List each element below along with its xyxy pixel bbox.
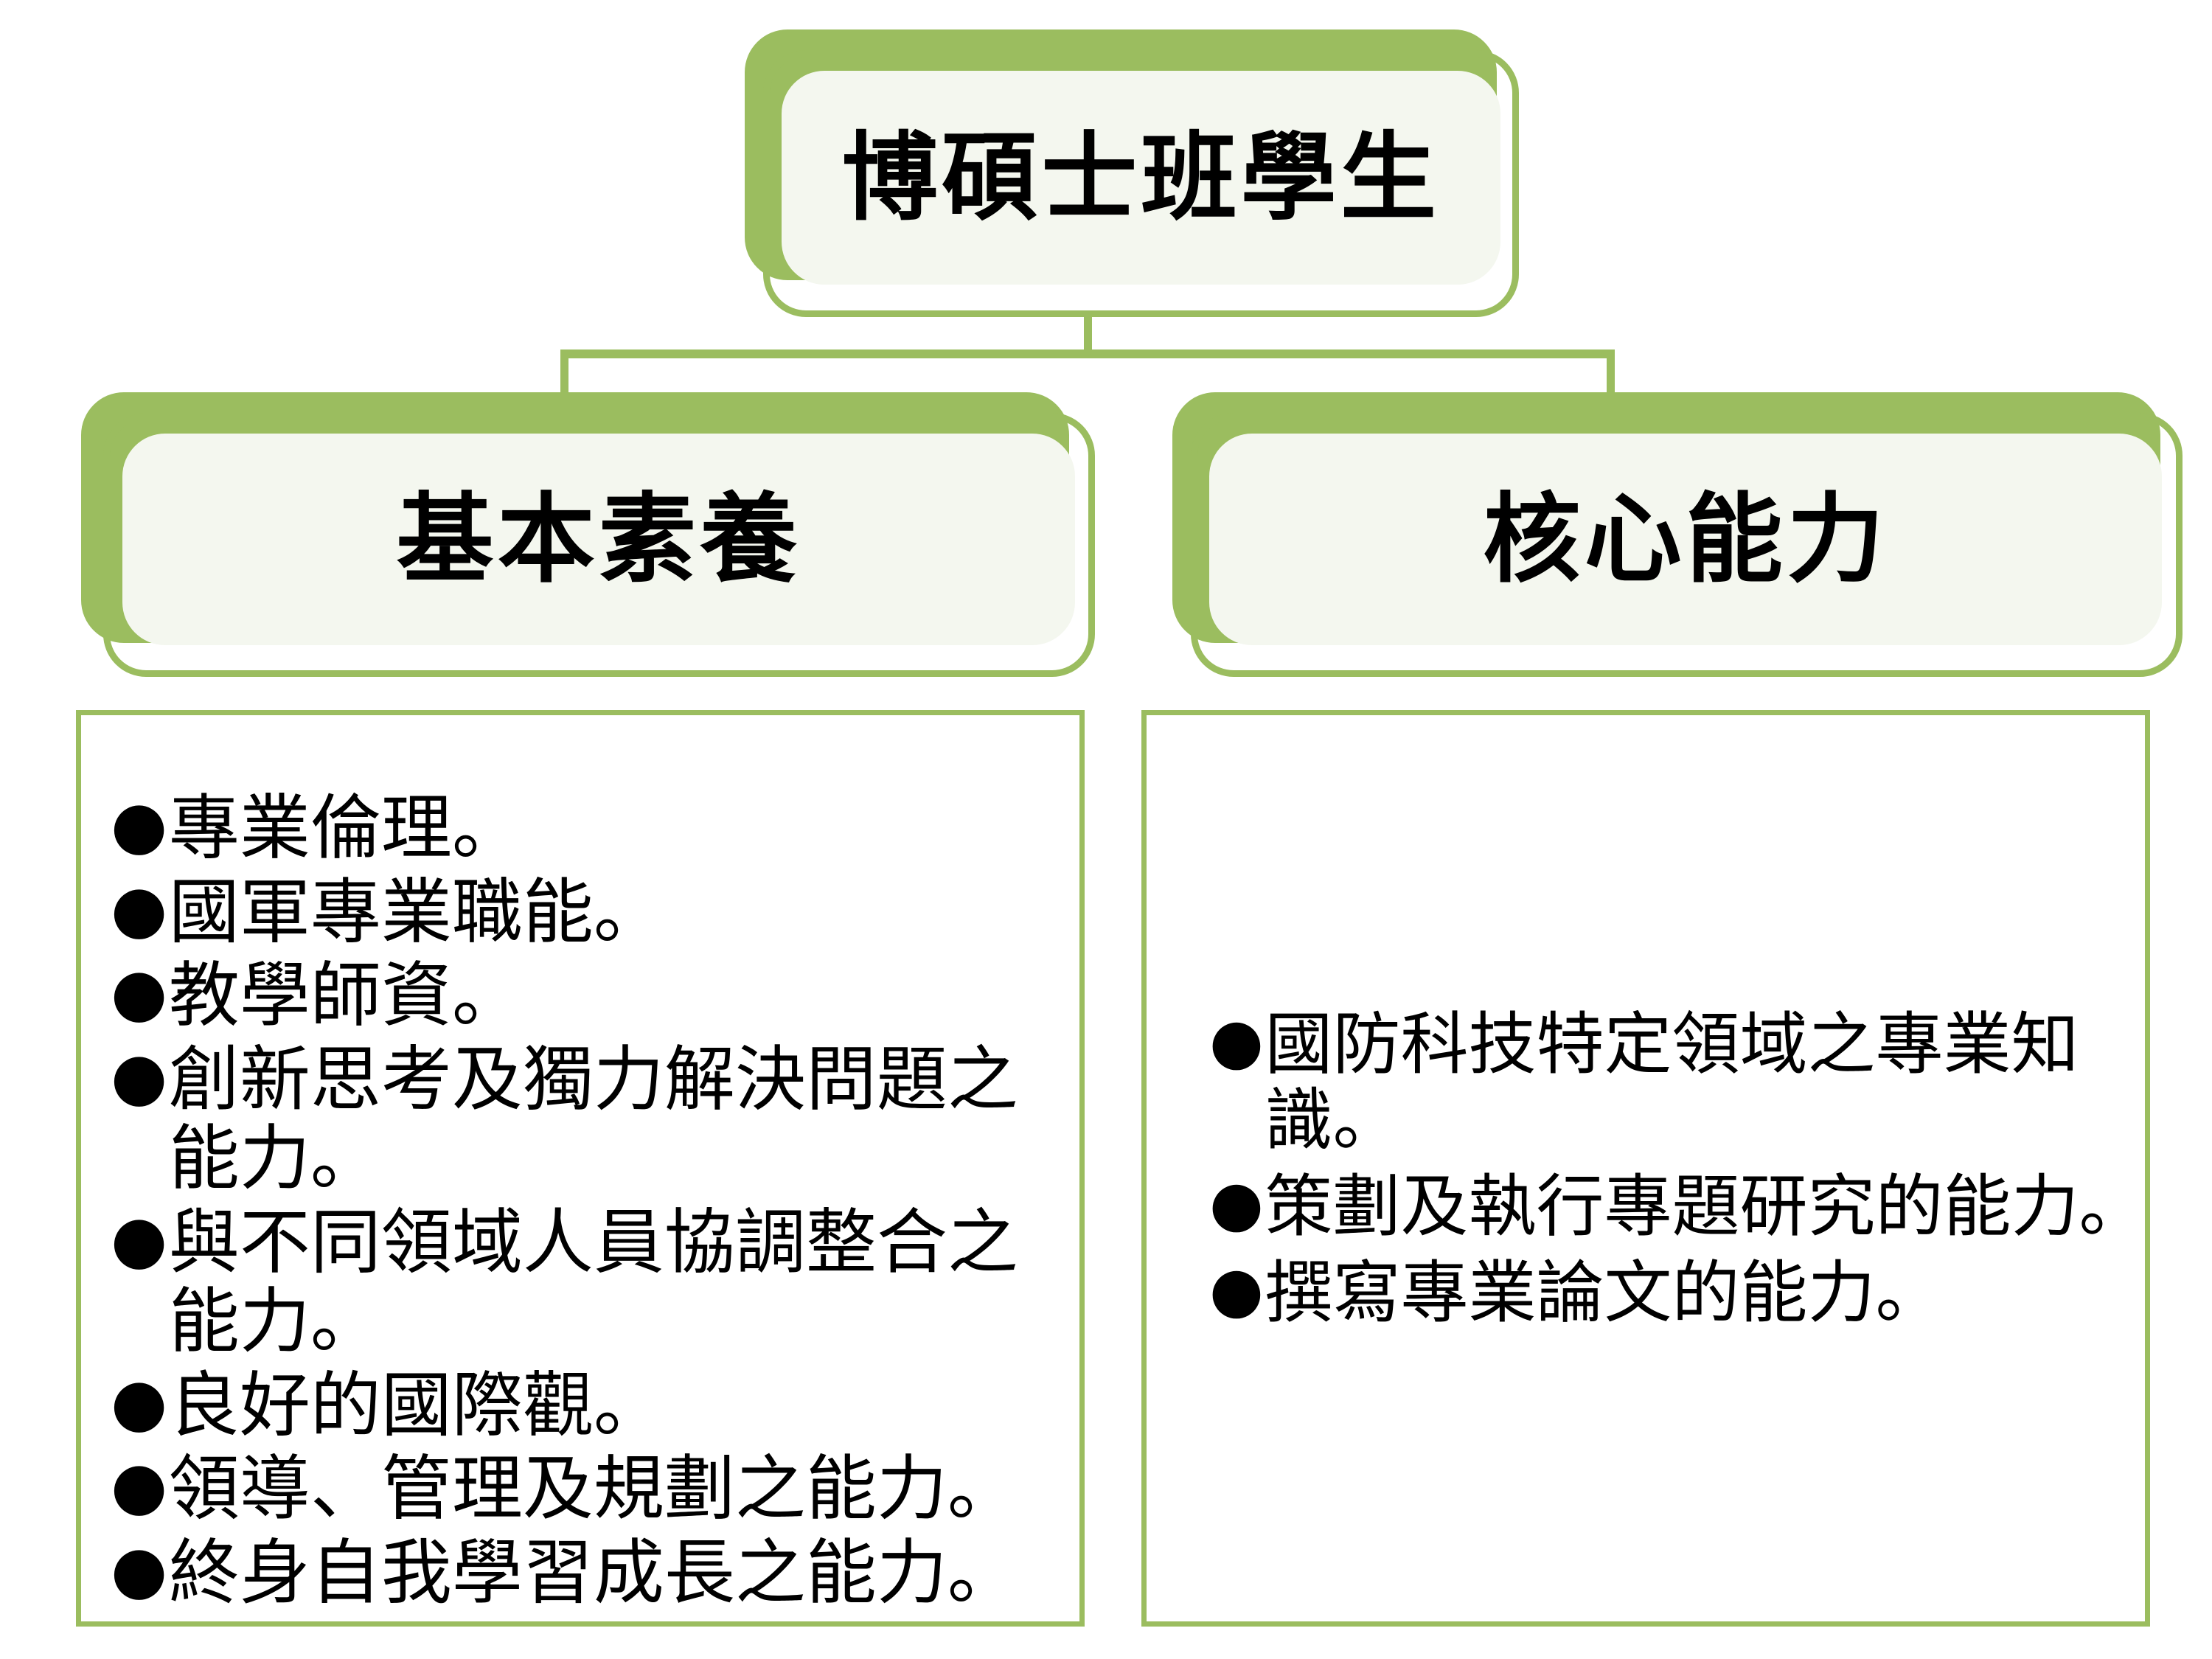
list-item: ● 終身自我學習成長之能力。 bbox=[111, 1534, 1062, 1613]
list-item-label: 創新思考及獨力解決問題之能力。 bbox=[169, 1040, 1062, 1199]
list-item-label: 教學師資。 bbox=[169, 956, 1062, 1036]
list-item: ● 良好的國際觀。 bbox=[111, 1366, 1062, 1446]
connector-horizontal-bar bbox=[560, 349, 1615, 358]
bullet-icon: ● bbox=[111, 1450, 167, 1523]
list-item-label: 專業倫理。 bbox=[169, 789, 1062, 869]
list-item: ● 撰寫專業論文的能力。 bbox=[1209, 1255, 2168, 1331]
list-item: ● 創新思考及獨力解決問題之能力。 bbox=[111, 1040, 1062, 1199]
branch-header-label-core-competency: 核心能力 bbox=[1209, 434, 2162, 645]
bullet-icon: ● bbox=[111, 1366, 167, 1439]
bullet-icon: ● bbox=[1209, 1255, 1264, 1325]
list-item: ● 國軍專業職能。 bbox=[111, 873, 1062, 953]
list-item: ● 領導、管理及規劃之能力。 bbox=[111, 1450, 1062, 1529]
connector-drop-left bbox=[560, 349, 568, 395]
list-item-label: 領導、管理及規劃之能力。 bbox=[169, 1450, 1062, 1529]
list-item-label: 良好的國際觀。 bbox=[169, 1366, 1062, 1446]
connector-drop-right bbox=[1607, 349, 1615, 395]
list-item-label: 國軍專業職能。 bbox=[169, 873, 1062, 953]
bullet-icon: ● bbox=[111, 1203, 167, 1276]
list-item: ● 策劃及執行專題研究的能力。 bbox=[1209, 1169, 2168, 1245]
bullet-icon: ● bbox=[111, 789, 167, 862]
bullet-icon: ● bbox=[1209, 1006, 1264, 1077]
bullet-list-basic-literacy: ● 專業倫理。 ● 國軍專業職能。 ● 教學師資。 ● 創新思考及獨力解決問題之… bbox=[111, 789, 1062, 1617]
list-item-label: 終身自我學習成長之能力。 bbox=[169, 1534, 1062, 1613]
bullet-icon: ● bbox=[111, 956, 167, 1029]
list-item-label: 撰寫專業論文的能力。 bbox=[1265, 1255, 2168, 1331]
list-item-label: 國防科技特定領域之專業知識。 bbox=[1265, 1006, 2168, 1158]
list-item: ● 國防科技特定領域之專業知識。 bbox=[1209, 1006, 2168, 1158]
list-item: ● 教學師資。 bbox=[111, 956, 1062, 1036]
list-item-label: 與不同領域人員協調整合之能力。 bbox=[169, 1203, 1062, 1362]
list-item: ● 與不同領域人員協調整合之能力。 bbox=[111, 1203, 1062, 1362]
root-node-label: 博碩士班學生 bbox=[782, 71, 1500, 285]
list-item-label: 策劃及執行專題研究的能力。 bbox=[1265, 1169, 2168, 1245]
list-item: ● 專業倫理。 bbox=[111, 789, 1062, 869]
bullet-icon: ● bbox=[1209, 1169, 1264, 1239]
bullet-icon: ● bbox=[111, 873, 167, 946]
diagram-canvas: 博碩士班學生 基本素養 核心能力 ● 專業倫理。 ● 國軍專業職能。 ● 教學師… bbox=[0, 0, 2212, 1659]
branch-header-label-basic-literacy: 基本素養 bbox=[122, 434, 1075, 645]
bullet-icon: ● bbox=[111, 1040, 167, 1113]
bullet-list-core-competency: ● 國防科技特定領域之專業知識。 ● 策劃及執行專題研究的能力。 ● 撰寫專業論… bbox=[1209, 1006, 2168, 1341]
bullet-icon: ● bbox=[111, 1534, 167, 1607]
